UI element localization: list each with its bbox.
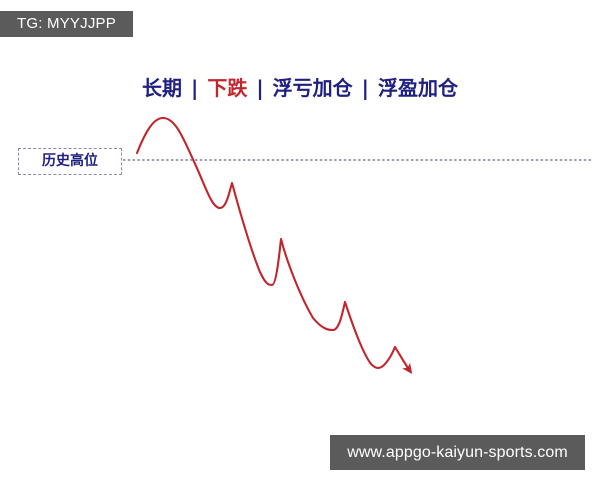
- website-watermark-badge: www.appgo-kaiyun-sports.com: [330, 435, 585, 470]
- chart-canvas: TG: MYYJJPP 长期|下跌|浮亏加仓|浮盈加仓 历史高位 www.app…: [0, 0, 600, 480]
- historic-high-label-box: 历史高位: [18, 148, 122, 175]
- price-trend-line: [137, 118, 410, 371]
- trend-chart: [0, 0, 600, 480]
